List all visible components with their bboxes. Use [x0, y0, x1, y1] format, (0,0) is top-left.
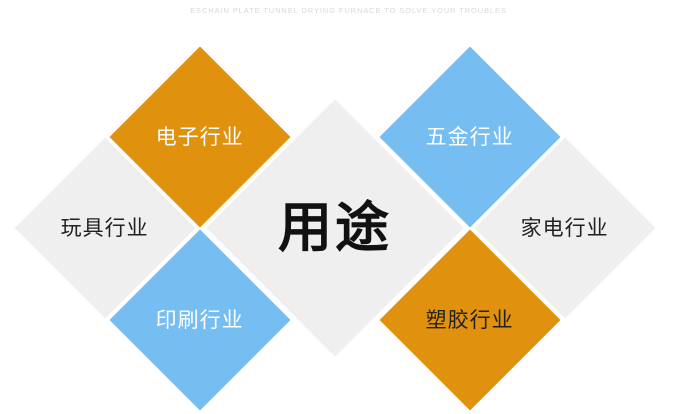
slide-canvas: ESCHAIN PLATE TUNNEL DRYING FURNACE TO S… — [0, 0, 697, 414]
diamond-label-printing: 印刷行业 — [156, 310, 244, 331]
diamond-label-plastics: 塑胶行业 — [426, 310, 514, 331]
diamond-label-center: 用途 — [278, 201, 392, 255]
diamond-label-electronics: 电子行业 — [156, 127, 244, 148]
diamond-label-appliances: 家电行业 — [521, 218, 609, 239]
diamond-label-toys: 玩具行业 — [61, 218, 149, 239]
diamond-label-hardware: 五金行业 — [426, 127, 514, 148]
diamond-grid: 玩具行业 家电行业 电子行业 印刷行业 五金行业 塑胶行业 用途 — [0, 0, 697, 414]
